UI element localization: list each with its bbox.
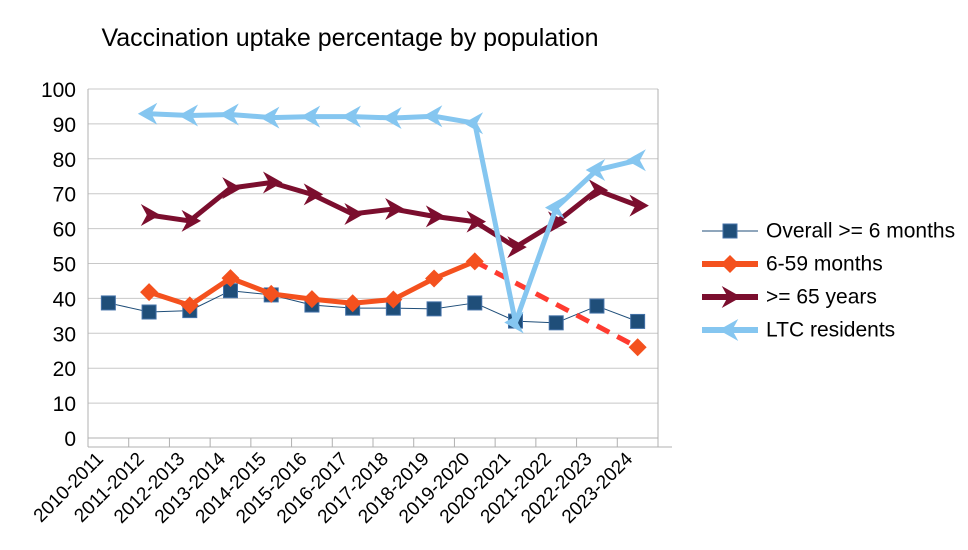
data-point-marker — [142, 305, 156, 319]
data-point-marker — [464, 112, 484, 134]
y-axis-tick-label: 0 — [64, 428, 76, 451]
data-point-marker — [468, 296, 482, 310]
y-axis-tick-label: 90 — [53, 114, 76, 137]
data-point-marker — [590, 299, 604, 313]
legend-item-ltc-residents[interactable]: LTC residents — [702, 319, 895, 342]
gridlines — [88, 89, 672, 447]
data-point-marker — [626, 149, 646, 171]
data-point-marker — [466, 252, 484, 270]
data-point-marker — [549, 316, 563, 330]
y-axis-tick-label: 40 — [53, 288, 76, 311]
y-axis-tick-label: 80 — [53, 149, 76, 172]
data-point-marker — [721, 255, 739, 273]
chart-container: Vaccination uptake percentage by populat… — [0, 0, 968, 550]
series-line-segment — [475, 261, 638, 347]
y-axis-tick-label: 100 — [41, 79, 76, 102]
data-point-marker — [589, 179, 609, 201]
y-axis-tick-label: 20 — [53, 358, 76, 381]
data-point-marker — [427, 302, 441, 316]
data-point-marker — [425, 270, 443, 288]
series-line-segment — [556, 170, 597, 208]
y-axis-tick-label: 70 — [53, 184, 76, 207]
x-axis-tick-labels: 2010-20112011-20122012-20132013-20142014… — [30, 448, 638, 527]
chart-legend: Overall >= 6 months6-59 months>= 65 year… — [702, 220, 955, 342]
legend-item-6-59-months[interactable]: 6-59 months — [702, 253, 883, 276]
y-axis-tick-labels: 0102030405060708090100 — [41, 79, 76, 451]
legend-item-label: Overall >= 6 months — [766, 220, 955, 243]
y-axis-tick-label: 50 — [53, 254, 76, 277]
series-line-segment — [190, 188, 231, 221]
data-point-marker — [141, 204, 161, 226]
data-point-marker — [101, 296, 115, 310]
data-point-marker — [629, 338, 647, 356]
legend-item-label: 6-59 months — [766, 253, 883, 276]
series-line-segment — [556, 190, 597, 222]
y-axis-tick-label: 30 — [53, 323, 76, 346]
chart-plot-area: 0102030405060708090100 2010-20112011-201… — [0, 0, 968, 550]
legend-item-65-years[interactable]: >= 65 years — [702, 286, 877, 309]
data-point-marker — [631, 314, 645, 328]
series-line-segment — [516, 208, 557, 323]
legend-item-label: LTC residents — [766, 319, 895, 342]
series-6-59-months — [140, 252, 647, 356]
data-point-marker — [723, 224, 737, 238]
series-65-years — [141, 172, 649, 259]
legend-item-label: >= 65 years — [766, 286, 877, 309]
y-axis-tick-label: 10 — [53, 393, 76, 416]
legend-item-overall-6-months[interactable]: Overall >= 6 months — [702, 220, 955, 243]
data-series — [101, 103, 649, 356]
series-line-segment — [393, 279, 434, 300]
y-axis-tick-label: 60 — [53, 219, 76, 242]
data-point-marker — [222, 177, 242, 199]
